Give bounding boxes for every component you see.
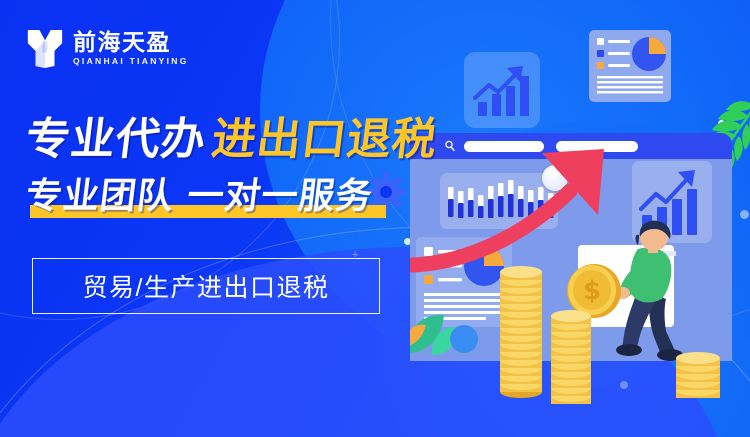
coin-stack-right	[674, 348, 722, 402]
coin-stack-middle	[549, 310, 593, 406]
svg-text:$: $	[583, 276, 601, 306]
promo-banner: + + + +	[0, 0, 750, 437]
headline-line-2: 专业团队 一对一服务	[24, 179, 390, 215]
brand-name-en: QIANHAI TIANYING	[73, 56, 189, 66]
bar-chart-growth-icon	[464, 52, 540, 128]
headline-line-1-white: 专业代办	[23, 118, 208, 162]
floating-card-bar-chart	[464, 52, 540, 128]
document-report-icon	[589, 30, 671, 102]
coin-stack-left	[498, 264, 544, 400]
leaf-decoration-icon	[410, 305, 492, 361]
subheading-text: 贸易/生产进出口退税	[83, 268, 330, 304]
floating-card-document	[589, 30, 671, 102]
subheading-box: 贸易/生产进出口退税	[32, 258, 380, 314]
illustration: $	[404, 0, 750, 437]
headline-line-1-gold: 进出口退税	[209, 118, 439, 162]
brand-name-cn: 前海天盈	[73, 30, 189, 54]
trophy-y-mark-icon	[26, 28, 64, 68]
brand-logo[interactable]: 前海天盈 QIANHAI TIANYING	[26, 28, 189, 68]
headline-block: 专业代办 进出口退税 专业团队 一对一服务	[26, 118, 437, 215]
headline-line-1: 专业代办 进出口退税	[23, 118, 439, 162]
headline-line-2-wrapper: 专业团队 一对一服务	[26, 179, 388, 215]
